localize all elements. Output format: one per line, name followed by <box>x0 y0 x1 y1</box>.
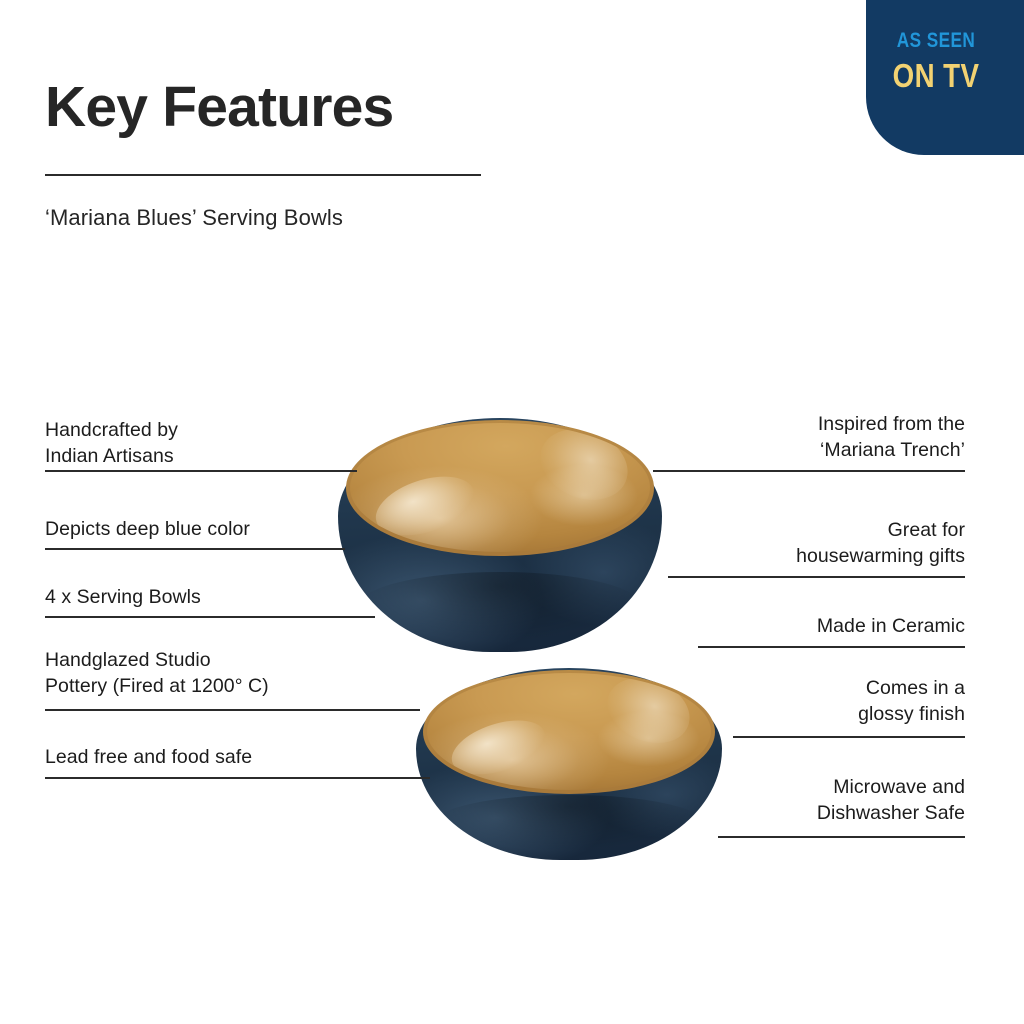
feature-rule-left-3 <box>45 616 375 618</box>
feature-label: Microwave and Dishwasher Safe <box>817 775 965 826</box>
badge-line-as-seen: AS SEEN <box>879 30 994 51</box>
feature-rule-left-5 <box>45 777 430 779</box>
badge-line-on-tv: ON TV <box>877 57 995 95</box>
feature-rule-right-2 <box>668 576 965 578</box>
feature-label: Lead free and food safe <box>45 745 252 771</box>
feature-rule-right-4 <box>733 736 965 738</box>
feature-rule-right-5 <box>718 836 965 838</box>
feature-left-1: Handcrafted by Indian Artisans <box>45 418 178 469</box>
feature-label: Depicts deep blue color <box>45 517 250 543</box>
feature-rule-left-2 <box>45 548 345 550</box>
feature-label: Great for housewarming gifts <box>796 518 965 569</box>
feature-right-4: Comes in a glossy finish <box>858 676 965 727</box>
feature-left-3: 4 x Serving Bowls <box>45 585 201 611</box>
feature-rule-left-4 <box>45 709 420 711</box>
page-title: Key Features <box>45 78 393 138</box>
feature-right-5: Microwave and Dishwasher Safe <box>817 775 965 826</box>
bowl-interior <box>350 423 650 552</box>
feature-left-2: Depicts deep blue color <box>45 517 250 543</box>
infographic-page: AS SEEN ON TV Key Features ‘Mariana Blue… <box>0 0 1024 1024</box>
bowl-interior <box>427 673 711 790</box>
feature-rule-right-3 <box>698 646 965 648</box>
as-seen-on-tv-badge: AS SEEN ON TV <box>866 0 1024 155</box>
product-bowl-top <box>338 418 662 652</box>
title-divider <box>45 174 481 176</box>
feature-rule-right-1 <box>653 470 965 472</box>
feature-label: Inspired from the ‘Mariana Trench’ <box>818 412 965 463</box>
feature-right-3: Made in Ceramic <box>817 614 965 640</box>
feature-label: Handcrafted by Indian Artisans <box>45 418 178 469</box>
feature-rule-left-1 <box>45 470 357 472</box>
feature-left-5: Lead free and food safe <box>45 745 252 771</box>
feature-label: Comes in a glossy finish <box>858 676 965 727</box>
product-bowl-bottom <box>416 668 722 860</box>
feature-label: Handglazed Studio Pottery (Fired at 1200… <box>45 648 269 699</box>
feature-right-2: Great for housewarming gifts <box>796 518 965 569</box>
page-subtitle: ‘Mariana Blues’ Serving Bowls <box>45 205 343 231</box>
feature-right-1: Inspired from the ‘Mariana Trench’ <box>818 412 965 463</box>
feature-left-4: Handglazed Studio Pottery (Fired at 1200… <box>45 648 269 699</box>
feature-label: Made in Ceramic <box>817 614 965 640</box>
feature-label: 4 x Serving Bowls <box>45 585 201 611</box>
